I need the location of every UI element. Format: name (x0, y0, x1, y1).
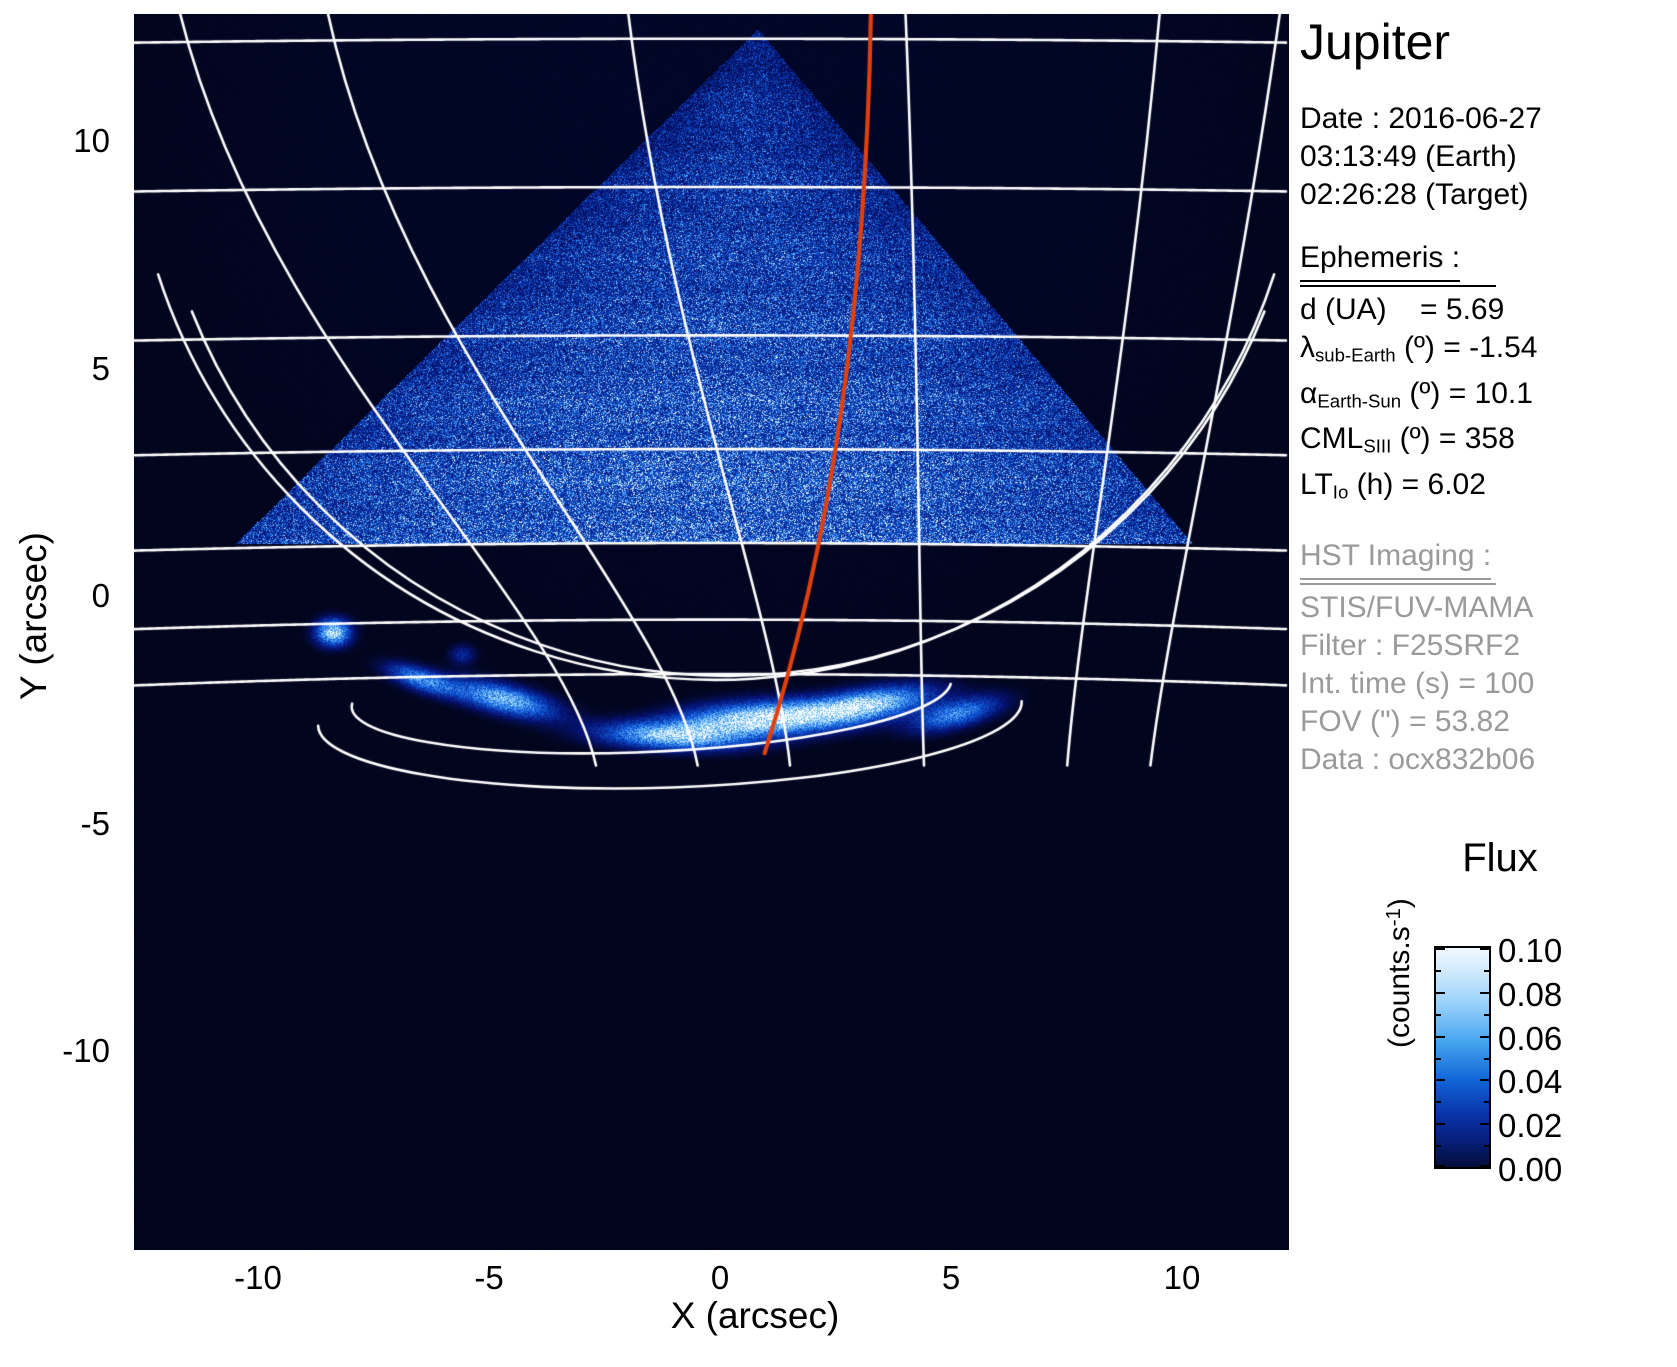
cbar-minor-tick (1436, 1058, 1441, 1060)
observation-date: Date : 2016-06-27 (1300, 100, 1670, 138)
cbar-minor-tick (1484, 1101, 1489, 1103)
lambda-value: = -1.54 (1443, 331, 1537, 364)
cbar-tick (1480, 992, 1489, 994)
alpha-symbol: α (1300, 377, 1317, 410)
unit-prefix: (counts.s (1383, 926, 1416, 1048)
lambda-unit: (º) (1404, 331, 1435, 364)
target-title: Jupiter (1300, 14, 1670, 70)
x-tick-label: -10 (198, 1261, 318, 1294)
imaging-instrument: STIS/FUV-MAMA (1300, 589, 1670, 627)
ephemeris-heading-text: Ephemeris : (1300, 240, 1460, 282)
ephemeris-phase-angle: αEarth-Sun (º) = 10.1 (1300, 375, 1670, 421)
y-axis-title: Y (arcsec) (13, 486, 55, 746)
x-tick-label: 0 (660, 1261, 780, 1294)
colorbar-gradient (1434, 946, 1491, 1169)
alpha-unit: (º) (1409, 377, 1440, 410)
colorbar-unit-label: (counts.s-1) (1383, 863, 1417, 1083)
imaging-integration-time: Int. time (s) = 100 (1300, 665, 1670, 703)
observation-time-earth: 03:13:49 (Earth) (1300, 138, 1670, 176)
x-tick-label: -5 (429, 1261, 549, 1294)
lambda-subscript: sub-Earth (1315, 345, 1396, 366)
lt-subscript: Io (1333, 482, 1349, 503)
x-axis-title: X (arcsec) (575, 1295, 935, 1337)
cbar-minor-tick (1436, 1014, 1441, 1016)
imaging-divider (1300, 583, 1496, 585)
imaging-heading: HST Imaging : (1300, 538, 1670, 580)
lambda-symbol: λ (1300, 331, 1315, 364)
cbar-tick-label: 0.06 (1498, 1022, 1562, 1055)
imaging-heading-text: HST Imaging : (1300, 538, 1491, 580)
x-tick-label: 10 (1122, 1261, 1242, 1294)
cbar-tick (1480, 1165, 1489, 1167)
imaging-dataset-id: Data : ocx832b06 (1300, 741, 1670, 779)
sky-image-plot (134, 14, 1289, 1250)
cbar-minor-tick (1484, 1145, 1489, 1147)
cbar-tick-label: 0.02 (1498, 1109, 1562, 1142)
x-tick-label: 5 (891, 1261, 1011, 1294)
cbar-minor-tick (1484, 1014, 1489, 1016)
cbar-tick-label: 0.10 (1498, 934, 1562, 967)
imaging-fov: FOV (") = 53.82 (1300, 703, 1670, 741)
colorbar-title: Flux (1400, 836, 1600, 880)
alpha-subscript: Earth-Sun (1317, 390, 1401, 411)
y-tick-label: -10 (20, 1034, 110, 1067)
imaging-block: HST Imaging : STIS/FUV-MAMA Filter : F25… (1300, 538, 1670, 779)
cbar-tick (1436, 1036, 1445, 1038)
jupiter-fuv-image (134, 14, 1289, 1250)
y-tick-label: 5 (20, 352, 110, 385)
ephemeris-block: Ephemeris : d (UA) = 5.69 λsub-Earth (º)… (1300, 240, 1670, 512)
lt-unit: (h) (1357, 468, 1394, 501)
cbar-minor-tick (1484, 970, 1489, 972)
lt-label: LT (1300, 468, 1333, 501)
cml-subscript: SIII (1363, 436, 1391, 457)
ephemeris-sub-earth-latitude: λsub-Earth (º) = -1.54 (1300, 329, 1670, 375)
cbar-tick (1480, 1036, 1489, 1038)
y-tick-label: 10 (20, 124, 110, 157)
cbar-tick (1436, 1079, 1445, 1081)
cbar-tick-label: 0.08 (1498, 978, 1562, 1011)
cml-label: CML (1300, 422, 1363, 455)
cbar-minor-tick (1436, 970, 1441, 972)
cml-unit: (º) (1400, 422, 1431, 455)
cbar-minor-tick (1484, 1058, 1489, 1060)
distance-label: d (UA) (1300, 293, 1387, 326)
unit-suffix: ) (1383, 898, 1416, 908)
ephemeris-divider (1300, 285, 1496, 287)
imaging-filter: Filter : F25SRF2 (1300, 627, 1670, 665)
cbar-tick (1480, 1079, 1489, 1081)
alpha-value: = 10.1 (1449, 377, 1533, 410)
cbar-tick (1436, 1123, 1445, 1125)
metadata-panel: Jupiter Date : 2016-06-27 03:13:49 (Eart… (1300, 14, 1670, 779)
ephemeris-cml: CMLSIII (º) = 358 (1300, 420, 1670, 466)
observation-time-target: 02:26:28 (Target) (1300, 176, 1670, 214)
cbar-tick-label: 0.00 (1498, 1153, 1562, 1186)
cbar-tick (1436, 1165, 1445, 1167)
cbar-minor-tick (1436, 1101, 1441, 1103)
cbar-tick-label: 0.04 (1498, 1065, 1562, 1098)
cbar-minor-tick (1436, 1145, 1441, 1147)
lt-value: = 6.02 (1402, 468, 1486, 501)
unit-exponent: -1 (1383, 908, 1405, 926)
ephemeris-io-local-time: LTIo (h) = 6.02 (1300, 466, 1670, 512)
cml-value: = 358 (1439, 422, 1515, 455)
cbar-tick (1436, 948, 1445, 950)
flux-colorbar: Flux (counts.s-1) 0.10 0.08 0.06 0.04 0.… (1300, 836, 1670, 1216)
ephemeris-heading: Ephemeris : (1300, 240, 1670, 282)
ephemeris-distance: d (UA) = 5.69 (1300, 291, 1670, 329)
distance-value: = 5.69 (1420, 293, 1504, 326)
y-tick-label: -5 (20, 807, 110, 840)
cbar-tick (1436, 992, 1445, 994)
cbar-tick (1480, 948, 1489, 950)
cbar-tick (1480, 1123, 1489, 1125)
